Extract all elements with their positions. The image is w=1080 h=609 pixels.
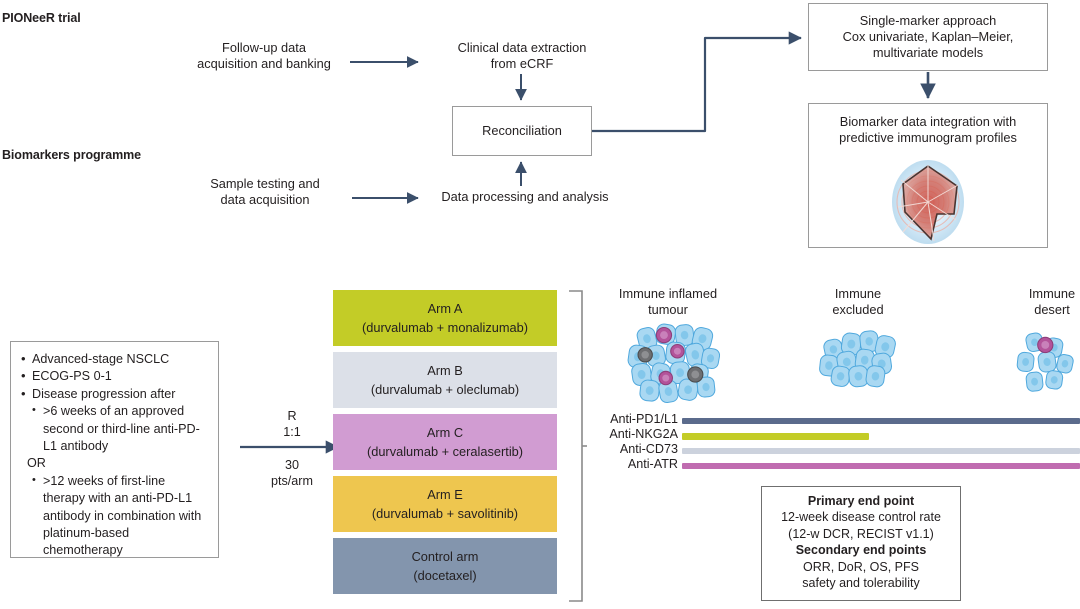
tumour-cell-cluster-excluded [788, 319, 928, 404]
tumour-cell-cluster-inflamed [593, 319, 743, 404]
primary-endpoint-line1: 12-week disease control rate [770, 509, 952, 525]
secondary-endpoints-line1: ORR, DoR, OS, PFS [770, 559, 952, 575]
secondary-endpoints-line2: safety and tolerability [770, 575, 952, 591]
arm-drugs: (durvalumab + ceralasertib) [367, 442, 523, 461]
treatment-arms-container: Arm A(durvalumab + monalizumab)Arm B(dur… [333, 290, 557, 602]
arms-bracket [566, 289, 588, 605]
immune-phenotype-inflamed: Immune inflamedtumour [593, 286, 743, 404]
arm-name: Arm A [428, 299, 463, 318]
biomarker-bar-anti-atr [682, 463, 1080, 469]
phenotype-label: Immune inflamedtumour [593, 286, 743, 317]
arm-drugs: (docetaxel) [413, 566, 476, 585]
arm-drugs: (durvalumab + oleclumab) [371, 380, 519, 399]
randomization-arrow [238, 440, 348, 454]
biomarker-bar-anti-cd73 [682, 448, 1080, 454]
biomarker-bar-anti-pd1-l1 [682, 418, 1080, 424]
biomarker-bar-anti-nkg2a [682, 433, 869, 440]
primary-endpoint-line2: (12-w DCR, RECIST v1.1) [770, 526, 952, 542]
arm-drugs: (durvalumab + monalizumab) [362, 318, 528, 337]
treatment-arm-arm-e[interactable]: Arm E(durvalumab + savolitinib) [333, 476, 557, 532]
arm-name: Arm B [427, 361, 463, 380]
eligibility-item: Advanced-stage NSCLC [19, 351, 208, 368]
arm-name: Arm C [427, 423, 463, 442]
randomization-n: 30 [252, 457, 332, 473]
phenotype-label: Immuneexcluded [788, 286, 928, 317]
eligibility-item: Disease progression after [19, 386, 208, 403]
treatment-arm-arm-b[interactable]: Arm B(durvalumab + oleclumab) [333, 352, 557, 408]
flowchart-connectors [0, 0, 1080, 270]
randomization-label-bottom: 30 pts/arm [252, 457, 332, 489]
immune-phenotype-excluded: Immuneexcluded [788, 286, 928, 404]
arm-name: Control arm [412, 547, 479, 566]
biomarker-label-anti-pd1-l1: Anti-PD1/L1 [600, 412, 678, 426]
secondary-endpoints-heading: Secondary end points [770, 542, 952, 558]
figure-canvas: PIONeeR trial Biomarkers programme Follo… [0, 0, 1080, 609]
randomization-label-top: R 1:1 [252, 408, 332, 440]
phenotype-label: Immunedesert [982, 286, 1080, 317]
arm-drugs: (durvalumab + savolitinib) [372, 504, 518, 523]
endpoints-box: Primary end point 12-week disease contro… [761, 486, 961, 601]
eligibility-item: ECOG-PS 0-1 [19, 368, 208, 385]
randomization-ratio: 1:1 [252, 424, 332, 440]
arm-name: Arm E [427, 485, 463, 504]
treatment-arm-control-arm[interactable]: Control arm(docetaxel) [333, 538, 557, 594]
treatment-arm-arm-c[interactable]: Arm C(durvalumab + ceralasertib) [333, 414, 557, 470]
eligibility-list: Advanced-stage NSCLCECOG-PS 0-1Disease p… [19, 351, 208, 560]
biomarker-label-anti-cd73: Anti-CD73 [600, 442, 678, 456]
eligibility-item: OR [19, 455, 208, 472]
biomarker-label-anti-nkg2a: Anti-NKG2A [600, 427, 678, 441]
eligibility-item: >12 weeks of first-line therapy with an … [19, 473, 208, 560]
randomization-r: R [252, 408, 332, 424]
immune-phenotype-desert: Immunedesert [982, 286, 1080, 404]
treatment-arm-arm-a[interactable]: Arm A(durvalumab + monalizumab) [333, 290, 557, 346]
biomarker-label-anti-atr: Anti-ATR [600, 457, 678, 471]
primary-endpoint-heading: Primary end point [770, 493, 952, 509]
biomarker-bars-panel: Anti-PD1/L1Anti-NKG2AAnti-CD73Anti-ATR [600, 414, 1080, 474]
eligibility-criteria-box: Advanced-stage NSCLCECOG-PS 0-1Disease p… [10, 341, 219, 558]
tumour-cell-cluster-desert [982, 319, 1080, 404]
eligibility-item: >6 weeks of an approved second or third-… [19, 403, 208, 455]
immune-phenotype-panel: Immune inflamedtumourImmuneexcludedImmun… [600, 286, 1080, 406]
randomization-pts-per-arm: pts/arm [252, 473, 332, 489]
